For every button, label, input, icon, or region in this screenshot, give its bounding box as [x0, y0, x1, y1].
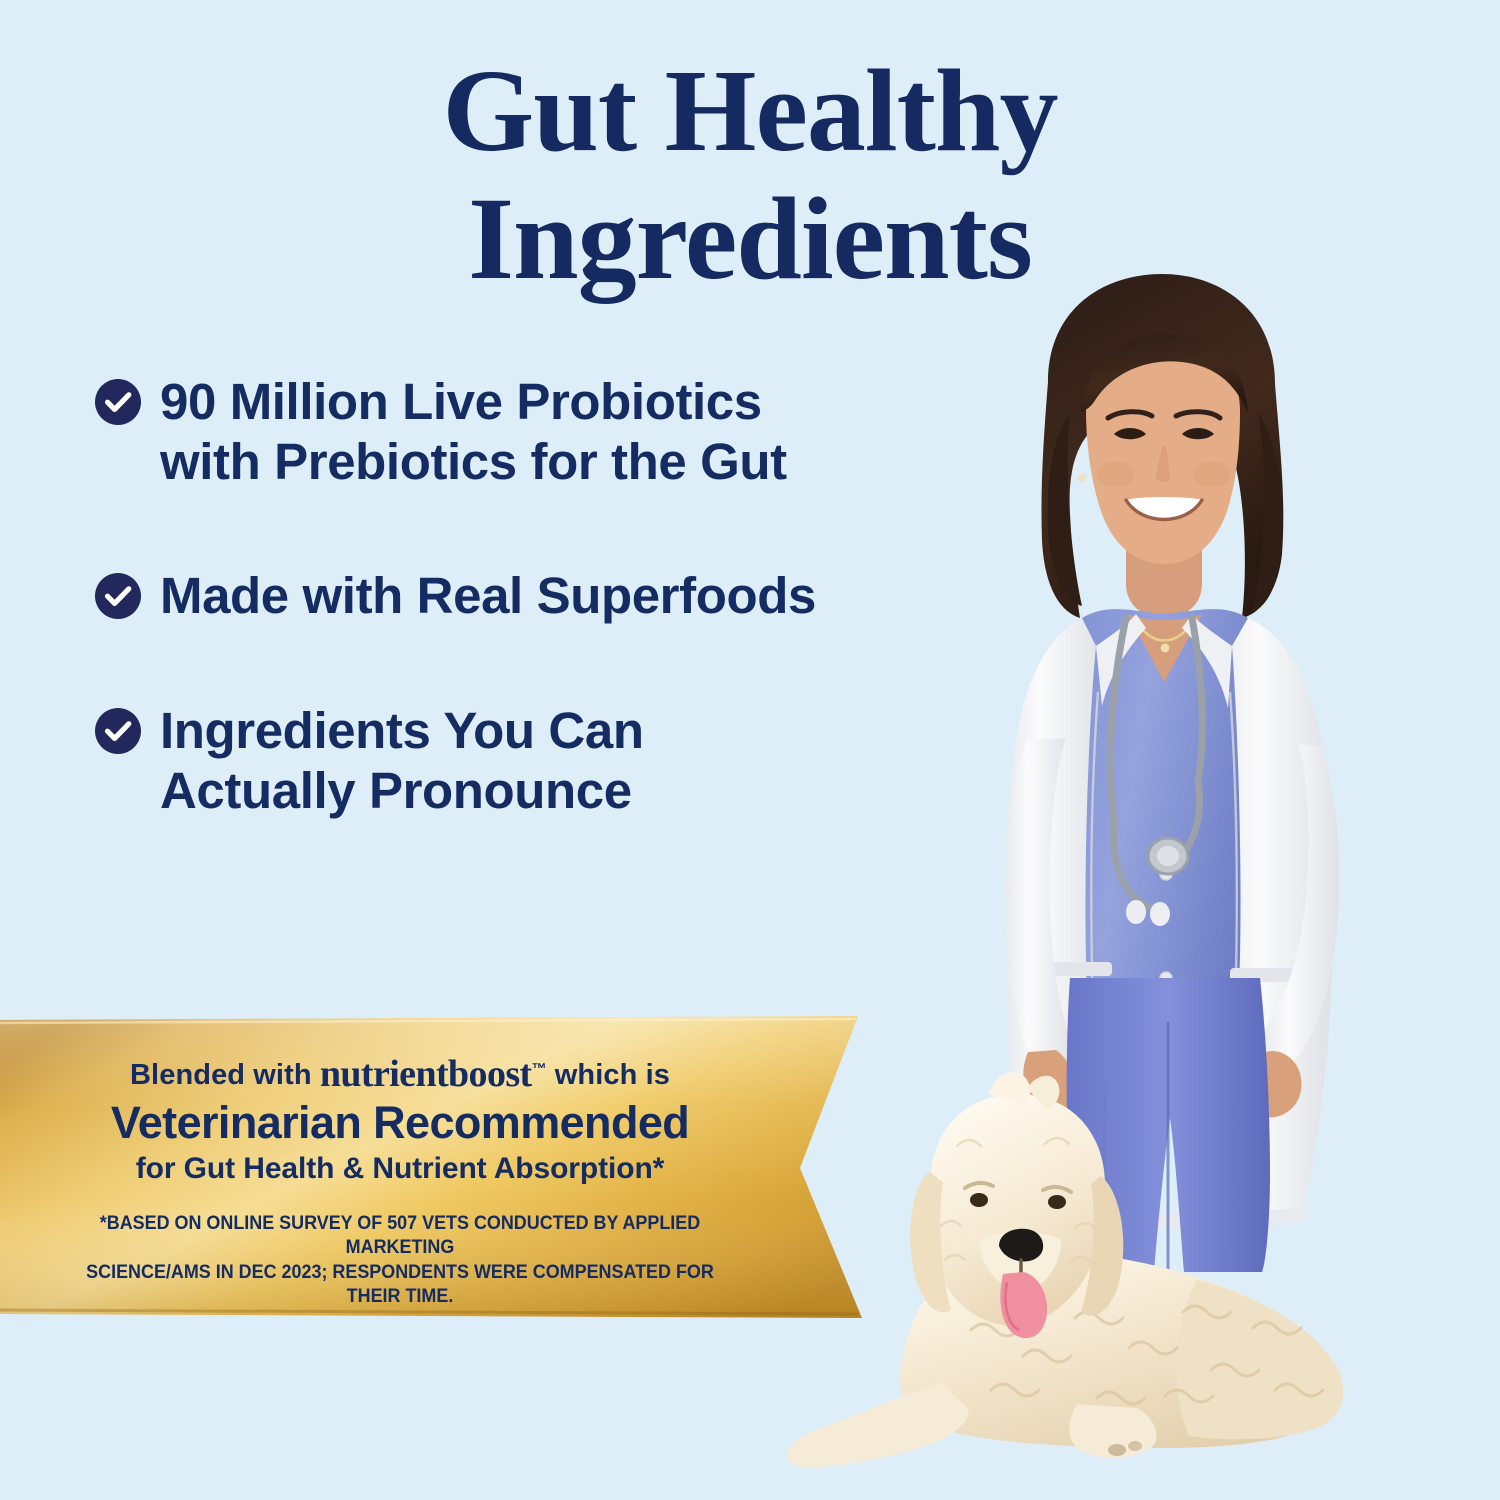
page-title-line-2: Ingredients [0, 180, 1500, 298]
list-item-label: Ingredients You Can Actually Pronounce [160, 701, 644, 821]
page-title: Gut Healthy Ingredients [0, 52, 1500, 298]
infographic-canvas: Gut Healthy Ingredients 90 Million Live … [0, 0, 1500, 1500]
list-item: Ingredients You Can Actually Pronounce [94, 701, 974, 821]
list-item-label: 90 Million Live Probiotics with Prebioti… [160, 372, 787, 492]
dog-photo [745, 1060, 1365, 1480]
list-item: Made with Real Superfoods [94, 566, 974, 626]
check-circle-icon [94, 378, 142, 426]
vet-recommended-banner [0, 1016, 862, 1322]
list-item: 90 Million Live Probiotics with Prebioti… [94, 372, 974, 492]
list-item-label: Made with Real Superfoods [160, 566, 816, 626]
check-circle-icon [94, 707, 142, 755]
benefits-list: 90 Million Live Probiotics with Prebioti… [94, 372, 974, 821]
check-circle-icon [94, 572, 142, 620]
page-title-line-1: Gut Healthy [0, 52, 1500, 170]
